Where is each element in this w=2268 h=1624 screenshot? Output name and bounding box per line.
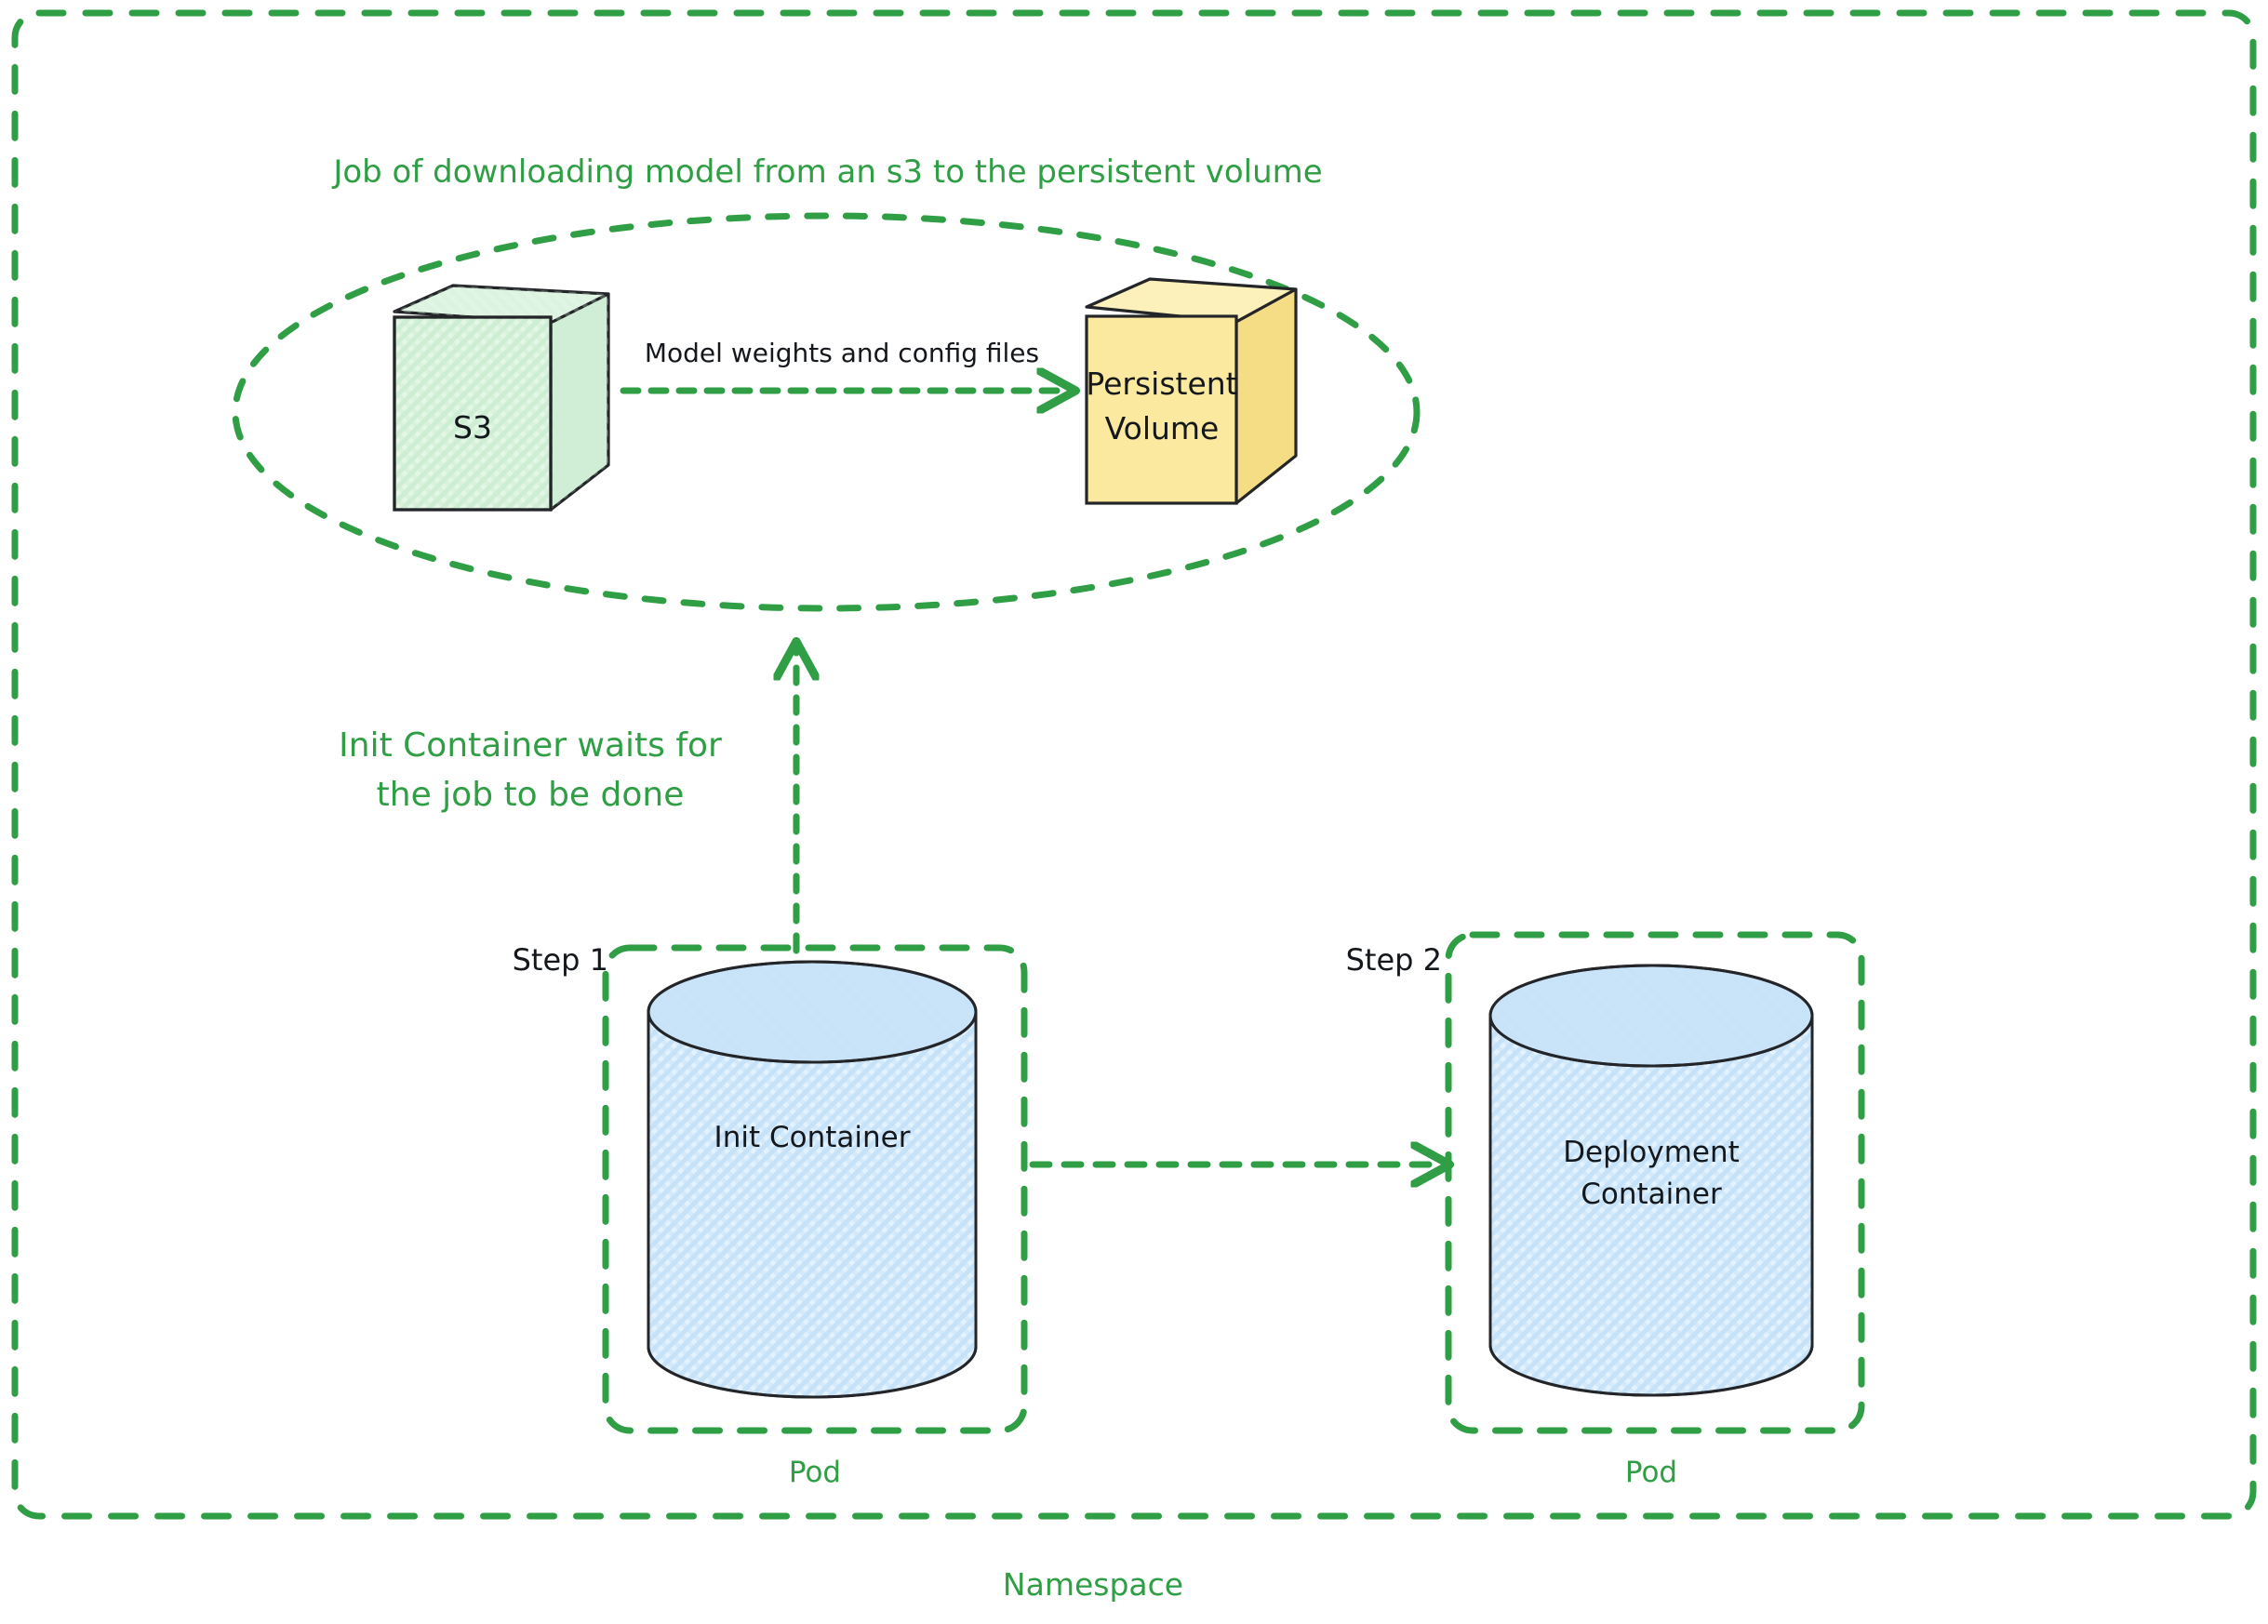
persistent-volume-cube (1087, 279, 1296, 503)
namespace-boundary (15, 13, 2253, 1516)
cylinder-deployment-container (1490, 965, 1812, 1395)
cylinder-init-container (648, 962, 976, 1397)
s3-cube (394, 286, 608, 510)
diagram-canvas: Job of downloading model from an s3 to t… (0, 0, 2268, 1624)
diagram-vector-layer (0, 0, 2268, 1624)
